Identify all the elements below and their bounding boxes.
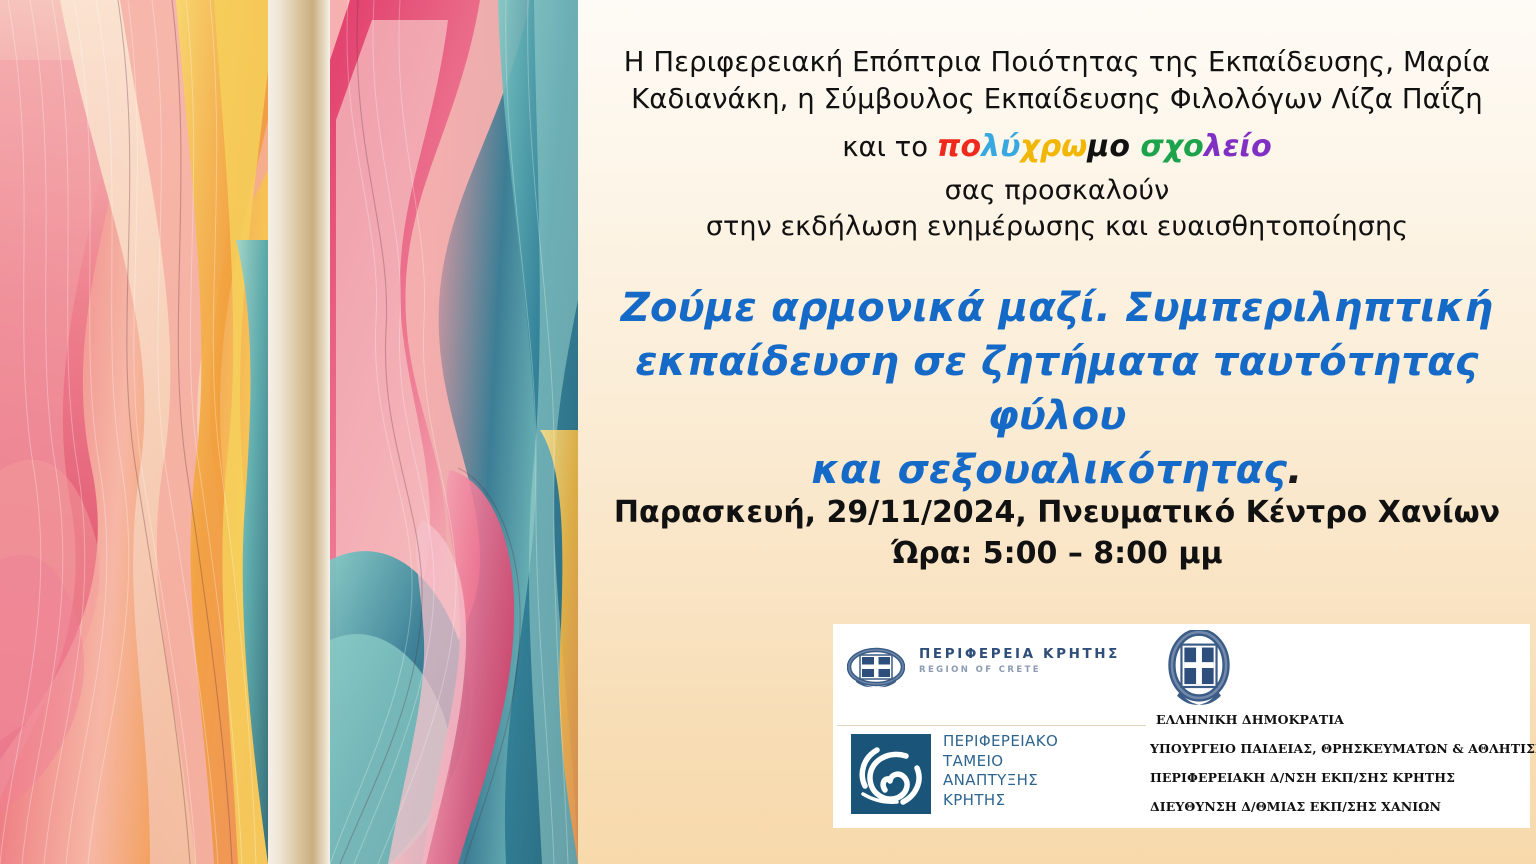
development-fund-mark (851, 734, 931, 814)
event-title-line-2: εκπαίδευση σε ζητήματα ταυτότητας φύλου (594, 335, 1520, 443)
rainbow-segment-2: χρω (1020, 129, 1087, 164)
intro-line-1: Η Περιφερειακή Επόπτρια Ποιότητας της Εκ… (578, 44, 1536, 118)
region-of-crete-title: ΠΕΡΙΦΕΡΕΙΑ ΚΡΗΤΗΣ (919, 646, 1120, 662)
event-title: Ζούμε αρμονικά μαζί. Συμπεριληπτική εκπα… (594, 281, 1520, 497)
artwork-right-svg (330, 0, 578, 864)
logo-panel: ΠΕΡΙΦΕΡΕΙΑ ΚΡΗΤΗΣ REGION OF CRETE (833, 624, 1530, 828)
rainbow-segment-0: πο (937, 129, 981, 164)
development-fund-text: ΠΕΡΙΦΕΡΕΙΑΚΟ ΤΑΜΕΙΟ ΑΝΑΠΤΥΞΗΣ ΚΡΗΤΗΣ (943, 732, 1058, 810)
rainbow-school-line: και το πολύχρωμο σχολείο (578, 128, 1536, 166)
development-fund-line-4: ΚΡΗΤΗΣ (943, 791, 1058, 811)
development-fund-line-1: ΠΕΡΙΦΕΡΕΙΑΚΟ (943, 732, 1058, 752)
event-date-venue: Παρασκευή, 29/11/2024, Πνευματικό Κέντρο… (578, 492, 1536, 534)
logo-divider (837, 725, 1146, 726)
development-fund-line-2: ΤΑΜΕΙΟ (943, 752, 1058, 772)
intro-text-4: στην εκδήλωση ενημέρωσης και ευαισθητοπο… (578, 209, 1536, 245)
development-fund-logo: ΠΕΡΙΦΕΡΕΙΑΚΟ ΤΑΜΕΙΟ ΑΝΑΠΤΥΞΗΣ ΚΡΗΤΗΣ (851, 734, 1151, 820)
rainbow-segment-3: μο (1087, 129, 1130, 164)
spiral-icon (851, 734, 931, 814)
logo-panel-right: ΕΛΛΗΝΙΚΗ ΔΗΜΟΚΡΑΤΙΑ ΥΠΟΥΡΓΕΙΟ ΠΑΙΔΕΙΑΣ, … (1146, 624, 1530, 828)
intro-text-1: Η Περιφερειακή Επόπτρια Ποιότητας της Εκ… (578, 44, 1536, 81)
artwork-panel-left (0, 0, 268, 864)
artwork-left-svg (0, 0, 268, 864)
rainbow-prefix: και το (842, 131, 937, 163)
rainbow-segment-6: λείο (1204, 129, 1272, 164)
ministry-line-0: ΕΛΛΗΝΙΚΗ ΔΗΜΟΚΡΑΤΙΑ (1156, 712, 1344, 727)
region-of-crete-text: ΠΕΡΙΦΕΡΕΙΑ ΚΡΗΤΗΣ REGION OF CRETE (919, 646, 1120, 675)
event-time: Ώρα: 5:00 – 8:00 μμ (578, 533, 1536, 575)
region-of-crete-subtitle: REGION OF CRETE (919, 665, 1120, 675)
rainbow-word: πολύχρωμο σχολείο (937, 129, 1272, 164)
ministry-line-1: ΥΠΟΥΡΓΕΙΟ ΠΑΙΔΕΙΑΣ, ΘΡΗΣΚΕΥΜΑΤΩΝ & ΑΘΛΗΤ… (1150, 741, 1536, 756)
region-of-crete-logo: ΠΕΡΙΦΕΡΕΙΑ ΚΡΗΤΗΣ REGION OF CRETE (847, 642, 1147, 704)
hellenic-republic-crest-icon (1168, 630, 1230, 706)
rainbow-segment-1: λύ (981, 129, 1020, 164)
invitation-poster: Η Περιφερειακή Επόπτρια Ποιότητας της Εκ… (0, 0, 1536, 864)
intro-line-2: σας προσκαλούν στην εκδήλωση ενημέρωσης … (578, 173, 1536, 245)
event-title-line-3-wrap: και σεξουαλικότητας. (594, 443, 1520, 497)
intro-text-3: σας προσκαλούν (578, 173, 1536, 209)
greek-crest-wreath-icon (847, 644, 905, 690)
ministry-line-2: ΠΕΡΙΦΕΡΕΙΑΚΗ Δ/ΝΣΗ ΕΚΠ/ΣΗΣ ΚΡΗΤΗΣ (1150, 770, 1455, 785)
artwork-gap (268, 0, 330, 864)
abstract-artwork-diptych (0, 0, 578, 864)
rainbow-segment-4 (1130, 129, 1140, 164)
ministry-line-3: ΔΙΕΥΘΥΝΣΗ Δ/ΘΜΙΑΣ ΕΚΠ/ΣΗΣ ΧΑΝΙΩΝ (1150, 799, 1441, 814)
rainbow-segment-5: σχο (1140, 129, 1203, 164)
event-title-line-3: και σεξουαλικότητας (811, 447, 1287, 493)
development-fund-line-3: ΑΝΑΠΤΥΞΗΣ (943, 771, 1058, 791)
intro-text-2: Καδιανάκη, η Σύμβουλος Εκπαίδευσης Φιλολ… (578, 81, 1536, 118)
logo-panel-left: ΠΕΡΙΦΕΡΕΙΑ ΚΡΗΤΗΣ REGION OF CRETE (833, 624, 1146, 828)
content-column: Η Περιφερειακή Επόπτρια Ποιότητας της Εκ… (578, 0, 1536, 864)
event-title-period: . (1287, 447, 1302, 493)
event-title-line-1: Ζούμε αρμονικά μαζί. Συμπεριληπτική (594, 281, 1520, 335)
artwork-panel-right (330, 0, 578, 864)
